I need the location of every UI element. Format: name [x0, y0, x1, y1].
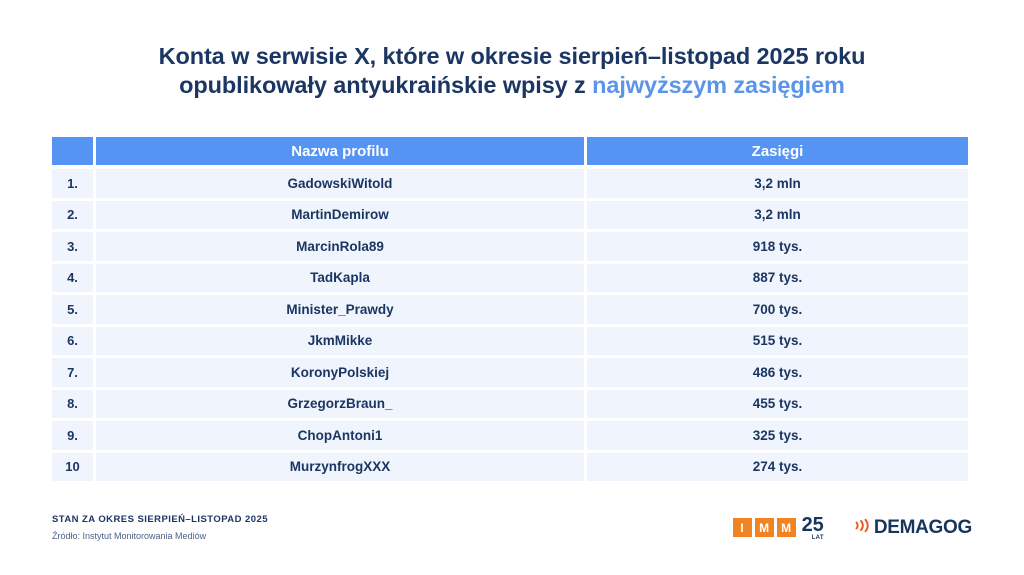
table-row: 7. KoronyPolskiej 486 tys.: [52, 358, 968, 387]
row-reach: 700 tys.: [587, 295, 968, 324]
row-profile-name: TadKapla: [96, 264, 584, 293]
row-profile-name: MartinDemirow: [96, 201, 584, 230]
footer-note: STAN ZA OKRES SIERPIEŃ–LISTOPAD 2025 Źró…: [52, 513, 268, 544]
table-row: 5. Minister_Prawdy 700 tys.: [52, 295, 968, 324]
row-profile-name: GrzegorzBraun_: [96, 390, 584, 419]
demagog-wordmark: DEMAGOG: [874, 518, 972, 537]
row-profile-name: JkmMikke: [96, 327, 584, 356]
title-line-1: Konta w serwisie X, które w okresie sier…: [0, 42, 1024, 71]
imm-anniversary-number: 25: [802, 514, 824, 536]
row-rank: 5.: [52, 295, 93, 324]
row-rank: 6.: [52, 327, 93, 356]
row-reach: 3,2 mln: [587, 169, 968, 198]
row-rank: 10: [52, 453, 93, 482]
logo-bar: I M M 25 LAT DEMAGOG: [733, 515, 972, 540]
row-rank: 9.: [52, 421, 93, 450]
row-reach: 515 tys.: [587, 327, 968, 356]
imm-letter-m1: M: [755, 518, 774, 537]
row-profile-name: GadowskiWitold: [96, 169, 584, 198]
header-profile-name: Nazwa profilu: [96, 137, 584, 165]
page-title: Konta w serwisie X, które w okresie sier…: [0, 42, 1024, 100]
footer-source-label: Źródło: Instytut Monitorowania Mediów: [52, 529, 268, 544]
row-reach: 918 tys.: [587, 232, 968, 261]
row-reach: 486 tys.: [587, 358, 968, 387]
footer-period-label: STAN ZA OKRES SIERPIEŃ–LISTOPAD 2025: [52, 513, 268, 526]
row-profile-name: KoronyPolskiej: [96, 358, 584, 387]
imm-letter-m2: M: [777, 518, 796, 537]
row-profile-name: MurzynfrogXXX: [96, 453, 584, 482]
table-row: 4. TadKapla 887 tys.: [52, 264, 968, 293]
row-reach: 3,2 mln: [587, 201, 968, 230]
imm-anniversary: 25 LAT: [802, 515, 824, 540]
table-row: 10 MurzynfrogXXX 274 tys.: [52, 453, 968, 482]
table-row: 9. ChopAntoni1 325 tys.: [52, 421, 968, 450]
row-reach: 274 tys.: [587, 453, 968, 482]
table-row: 3. MarcinRola89 918 tys.: [52, 232, 968, 261]
title-line-2: opublikowały antyukraińskie wpisy z najw…: [0, 71, 1024, 100]
table-row: 6. JkmMikke 515 tys.: [52, 327, 968, 356]
row-rank: 4.: [52, 264, 93, 293]
demagog-logo: DEMAGOG: [852, 516, 972, 540]
table-row: 1. GadowskiWitold 3,2 mln: [52, 169, 968, 198]
row-rank: 2.: [52, 201, 93, 230]
row-rank: 8.: [52, 390, 93, 419]
row-rank: 3.: [52, 232, 93, 261]
table-header-row: Nazwa profilu Zasięgi: [52, 137, 968, 165]
title-line-2-prefix: opublikowały antyukraińskie wpisy z: [179, 72, 592, 98]
imm-logo: I M M 25 LAT: [733, 515, 824, 540]
row-reach: 887 tys.: [587, 264, 968, 293]
table-row: 2. MartinDemirow 3,2 mln: [52, 201, 968, 230]
imm-anniversary-sub: LAT: [812, 535, 824, 541]
imm-letter-i: I: [733, 518, 752, 537]
row-reach: 325 tys.: [587, 421, 968, 450]
row-profile-name: Minister_Prawdy: [96, 295, 584, 324]
header-rank: [52, 137, 93, 165]
sound-wave-icon: [852, 516, 871, 540]
row-reach: 455 tys.: [587, 390, 968, 419]
row-profile-name: ChopAntoni1: [96, 421, 584, 450]
row-profile-name: MarcinRola89: [96, 232, 584, 261]
table-row: 8. GrzegorzBraun_ 455 tys.: [52, 390, 968, 419]
header-reach: Zasięgi: [587, 137, 968, 165]
ranking-table: Nazwa profilu Zasięgi 1. GadowskiWitold …: [52, 137, 968, 484]
row-rank: 1.: [52, 169, 93, 198]
title-accent-text: najwyższym zasięgiem: [592, 72, 845, 98]
row-rank: 7.: [52, 358, 93, 387]
